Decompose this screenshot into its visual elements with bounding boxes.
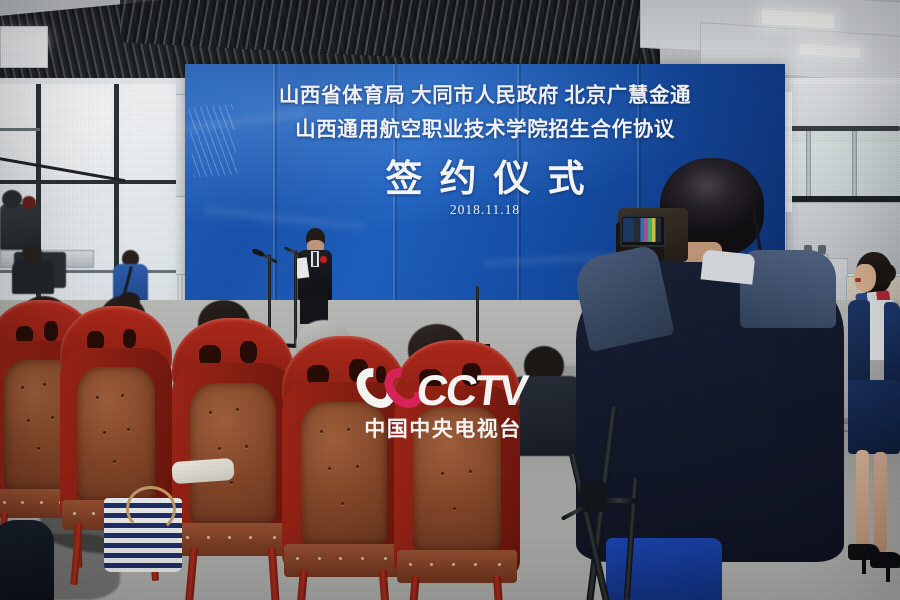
attendant-leg [874, 452, 887, 552]
microphone-stand [294, 250, 297, 346]
attendant-vest [884, 302, 900, 386]
handrail [782, 126, 900, 131]
white-cloth-bag [171, 458, 234, 484]
attendant-vest [848, 300, 870, 386]
glass-balustrade [786, 128, 900, 200]
chair [172, 318, 294, 568]
attendant-skirt [848, 380, 900, 454]
rail-post [852, 131, 857, 197]
speaker-tie [313, 252, 317, 266]
banner-line-1: 山西省体育局 大同市人民政府 北京广慧金通 [185, 78, 785, 108]
person-body [12, 260, 54, 294]
photo-scene: 山西省体育局 大同市人民政府 北京广慧金通 山西通用航空职业技术学院招生合作协议… [0, 0, 900, 600]
equipment-dark-box [0, 204, 40, 250]
shoe-heel-icon [862, 558, 866, 574]
attendant-shoe [870, 552, 900, 568]
cameraman-collar [701, 249, 756, 284]
cctv-logo: CCTV 中国中央电视台 [0, 366, 900, 443]
camera-flip-monitor [620, 215, 666, 247]
cctv-chinese-text: 中国中央电视台 [0, 413, 900, 443]
speaker-corsage-icon [320, 256, 327, 263]
ceiling-panel [0, 26, 48, 68]
attendant-leg [856, 450, 869, 552]
banner-line-2: 山西通用航空职业技术学院招生合作协议 [185, 112, 785, 142]
microphone-stand [476, 286, 479, 346]
equipment-red-knob-icon [22, 196, 36, 209]
foreground-person [0, 520, 54, 600]
cctv-tv-text: CCTV [415, 372, 529, 410]
shoe-heel-icon [886, 566, 890, 582]
hair-bun-icon [880, 264, 896, 282]
ceiling-light-icon [2, 36, 42, 44]
attendant-lips [855, 278, 861, 282]
equipment-knob-icon [2, 190, 22, 208]
rail-post [806, 131, 811, 197]
monitor-screen-content [623, 218, 661, 242]
